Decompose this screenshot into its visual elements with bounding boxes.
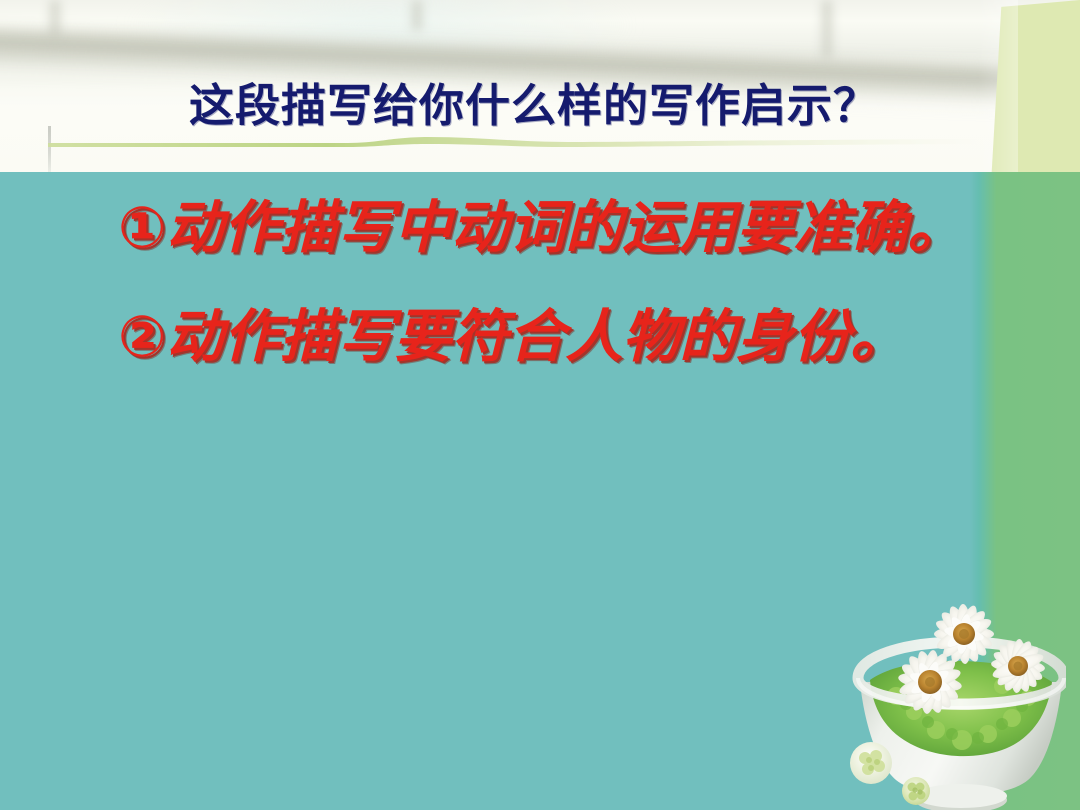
flower-bud-icon [900,774,932,806]
window-mullion [410,0,424,30]
decorative-vertical-rule [48,126,51,172]
bullet-list: ①动作描写中动词的运用要准确。 ②动作描写要符合人物的身份。 [118,200,1048,366]
window-mullion [820,0,834,58]
bullet-item: ②动作描写要符合人物的身份。 [118,309,1048,366]
green-wave-icon [48,136,978,148]
flower-bud [847,738,895,786]
slide-title: 这段描写给你什么样的写作启示？ [0,82,1080,129]
bullet-item: ①动作描写中动词的运用要准确。 [118,200,1048,257]
presentation-slide: 这段描写给你什么样的写作启示？ ①动作描写中动词的运用要准确。 ②动作描写要符合… [0,0,1080,810]
slide-body: ①动作描写中动词的运用要准确。 ②动作描写要符合人物的身份。 [0,172,1080,810]
window-mullion [48,0,62,38]
flower-bud [900,774,932,806]
decorative-green-wave-rule [48,136,978,146]
flower-bud-icon [847,738,895,786]
